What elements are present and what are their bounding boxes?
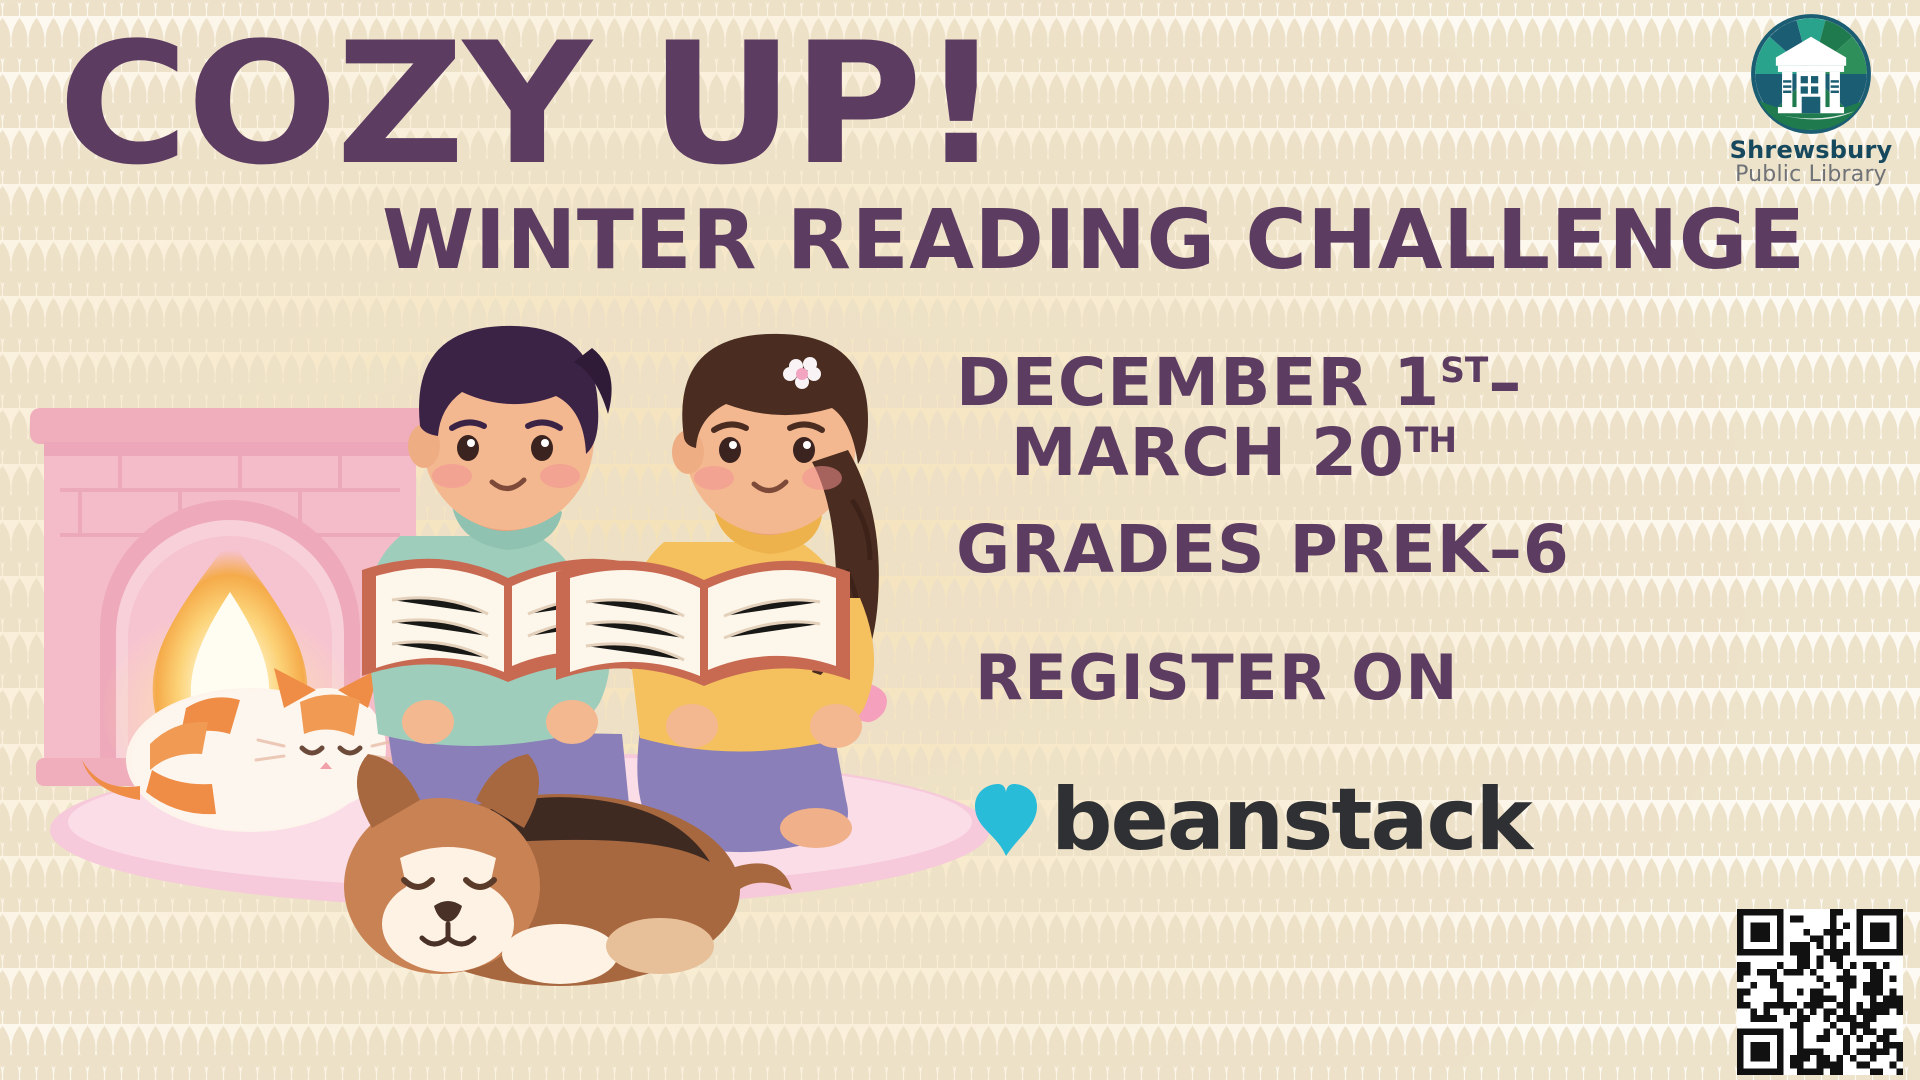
library-building-emblem-icon	[1749, 12, 1873, 136]
date-line-2: MARCH 20TH	[956, 418, 1512, 488]
date-1-ordinal: ST	[1440, 351, 1488, 391]
date-2-ordinal: TH	[1405, 421, 1457, 461]
library-logo: Shrewsbury Public Library	[1716, 12, 1906, 180]
date-1-text: DECEMBER 1	[956, 344, 1440, 421]
library-subname: Public Library	[1716, 163, 1906, 187]
register-line: REGISTER ON	[956, 645, 1478, 711]
beanstack-logo[interactable]: beanstack	[975, 770, 1405, 870]
qr-code-icon[interactable]	[1737, 909, 1903, 1075]
children-reading-by-fireplace-illustration	[0, 330, 1060, 1080]
grades-line: GRADES PREK–6	[956, 515, 1512, 585]
page-subtitle: WINTER READING CHALLENGE	[382, 200, 1806, 282]
page-title: COZY UP!	[58, 22, 1000, 187]
date-range: DECEMBER 1ST– MARCH 20TH	[956, 348, 1512, 488]
beanstack-heart-leaf-icon	[975, 784, 1037, 856]
book-girl	[556, 561, 850, 686]
date-1-dash: –	[1488, 344, 1522, 421]
library-name: Shrewsbury	[1716, 138, 1906, 162]
poster-canvas: Shrewsbury Public Library COZY UP! WINTE…	[0, 0, 1920, 1080]
date-line-1: DECEMBER 1ST–	[956, 348, 1512, 418]
date-2-text: MARCH 20	[1011, 414, 1405, 491]
beanstack-wordmark: beanstack	[1051, 777, 1531, 863]
